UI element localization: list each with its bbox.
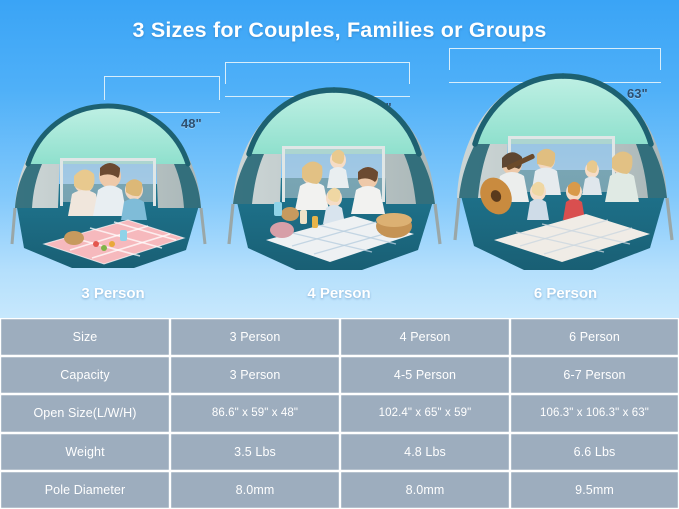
spec-cell-capacity-4-person: 4-5 Person	[340, 356, 510, 394]
tent-illustration-3-person	[8, 98, 218, 286]
spec-cell-open-size-4-person: 102.4" x 65" x 59"	[340, 394, 510, 432]
spec-cell-size-4-person: 4 Person	[340, 318, 510, 356]
spec-row-label-size: Size	[0, 318, 170, 356]
spec-row-label-weight: Weight	[0, 433, 170, 471]
spec-cell-capacity-6-person: 6-7 Person	[510, 356, 679, 394]
product-label-4-person: 4 Person	[226, 285, 452, 302]
spec-cell-capacity-3-person: 3 Person	[170, 356, 340, 394]
product-label-6-person: 6 Person	[452, 285, 679, 302]
hero-banner: 3 Sizes for Couples, Families or Groups …	[0, 0, 679, 318]
spec-cell-weight-4-person: 4.8 Lbs	[340, 433, 510, 471]
spec-cell-weight-6-person: 6.6 Lbs	[510, 433, 679, 471]
spec-row-label-capacity: Capacity	[0, 356, 170, 394]
measure-bracket-6-person	[449, 48, 661, 70]
product-card-3-person[interactable]: 48"	[0, 0, 226, 318]
product-size-comparison-infographic: 3 Sizes for Couples, Families or Groups …	[0, 0, 679, 509]
spec-cell-size-3-person: 3 Person	[170, 318, 340, 356]
spec-row-label-pole-diameter: Pole Diameter	[0, 471, 170, 509]
tent-illustration-4-person	[226, 82, 446, 286]
spec-cell-size-6-person: 6 Person	[510, 318, 679, 356]
tent-illustration-6-person	[450, 68, 678, 286]
spec-cell-pole-diameter-3-person: 8.0mm	[170, 471, 340, 509]
spec-cell-weight-3-person: 3.5 Lbs	[170, 433, 340, 471]
product-label-3-person: 3 Person	[0, 285, 226, 302]
product-card-6-person[interactable]: 63"	[452, 0, 679, 318]
product-card-4-person[interactable]: 59"	[226, 0, 452, 318]
measure-bracket-3-person	[104, 76, 220, 100]
spec-comparison-table: Size 3 Person 4 Person 6 Person Capacity…	[0, 318, 679, 509]
spec-cell-pole-diameter-6-person: 9.5mm	[510, 471, 679, 509]
measure-bracket-4-person	[225, 62, 410, 84]
spec-cell-open-size-6-person: 106.3" x 106.3" x 63"	[510, 394, 679, 432]
spec-cell-open-size-3-person: 86.6" x 59" x 48"	[170, 394, 340, 432]
spec-cell-pole-diameter-4-person: 8.0mm	[340, 471, 510, 509]
spec-row-label-open-size: Open Size(L/W/H)	[0, 394, 170, 432]
